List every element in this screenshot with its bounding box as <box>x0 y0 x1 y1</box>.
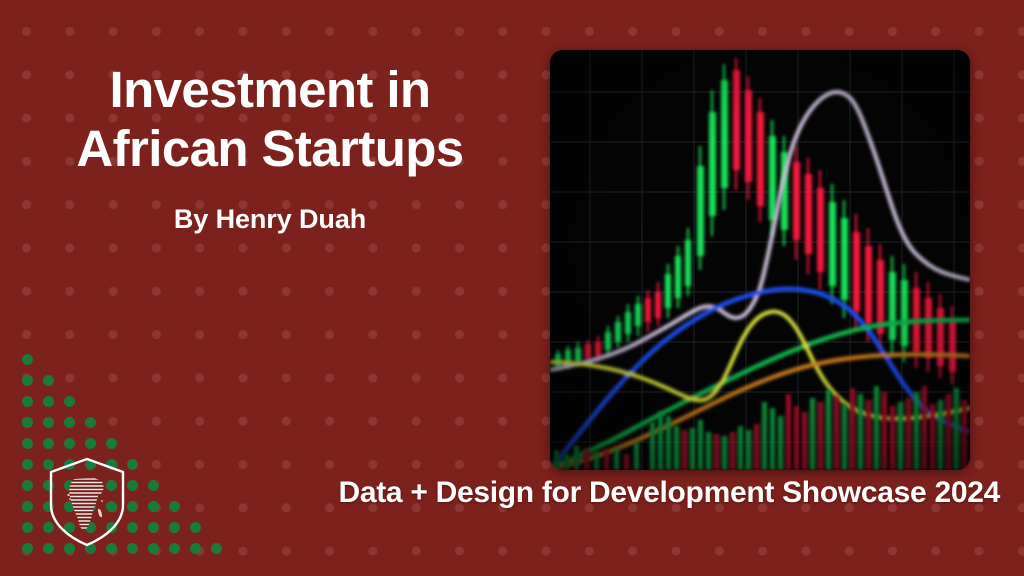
green-dot <box>64 396 75 407</box>
green-dot <box>22 417 33 428</box>
green-dot <box>169 522 180 533</box>
green-dot <box>22 543 33 554</box>
green-dot <box>22 438 33 449</box>
showcase-label: Data + Design for Development Showcase 2… <box>338 476 1000 509</box>
author-byline: By Henry Duah <box>0 204 540 235</box>
green-dot <box>22 459 33 470</box>
green-dot <box>64 438 75 449</box>
green-dot <box>43 417 54 428</box>
green-dot <box>85 417 96 428</box>
green-dot <box>22 354 33 365</box>
title-block: Investment in African Startups By Henry … <box>0 60 540 235</box>
presentation-slide: Investment in African Startups By Henry … <box>0 0 1024 576</box>
green-dot <box>190 522 201 533</box>
green-dot <box>22 375 33 386</box>
green-dot <box>148 522 159 533</box>
title-line-1: Investment in <box>110 61 431 118</box>
green-dot <box>43 438 54 449</box>
bottom-banner: Data + Design for Development Showcase 2… <box>0 476 1024 510</box>
green-dot <box>85 438 96 449</box>
green-dot <box>22 396 33 407</box>
green-dot <box>190 543 201 554</box>
green-dot <box>169 543 180 554</box>
stock-chart-photo <box>550 50 970 470</box>
page-title: Investment in African Startups <box>0 60 540 178</box>
green-dot <box>43 396 54 407</box>
green-dot <box>211 543 222 554</box>
green-dot <box>43 375 54 386</box>
green-dot <box>148 543 159 554</box>
green-dot <box>22 522 33 533</box>
green-dot <box>106 438 117 449</box>
green-dot <box>64 417 75 428</box>
title-line-2: African Startups <box>76 120 463 177</box>
